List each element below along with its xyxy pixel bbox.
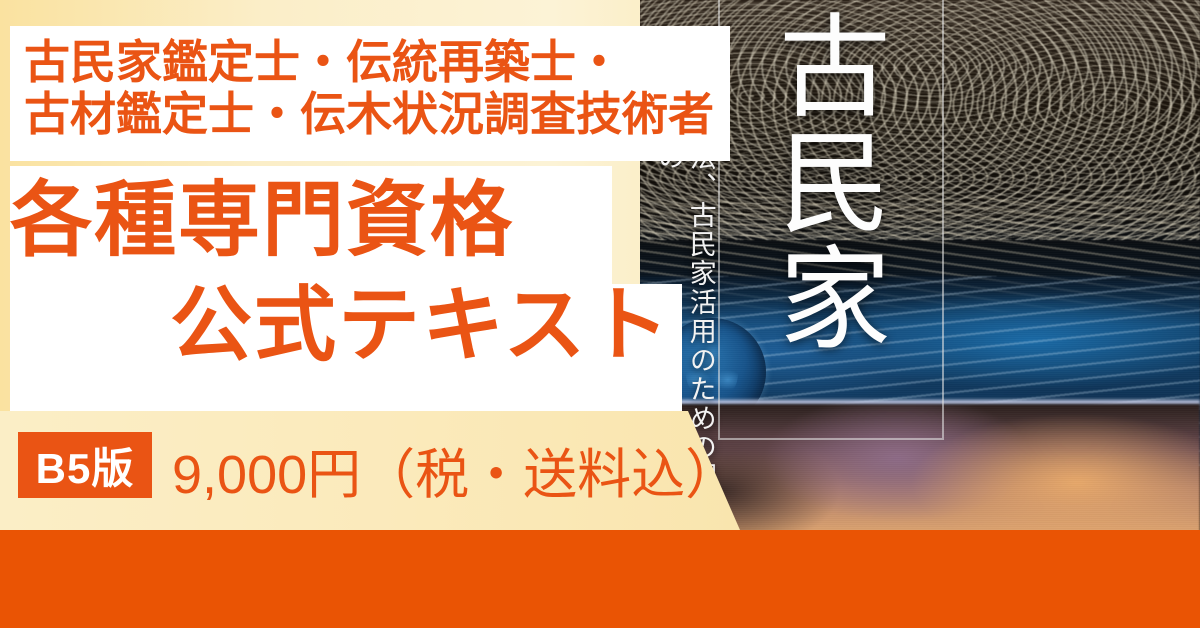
headline-line-2: 公式テキスト [170, 285, 672, 367]
qualifications-panel: 古民家鑑定士・伝統再築士・ 古材鑑定士・伝木状況調査技術者 [10, 26, 730, 161]
promo-banner: 古民家 伝統構法、古民家活用のための調査と再生の 古民家鑑定士・伝統再築士・ 古… [0, 0, 1200, 628]
cta-bar[interactable]: 詳細・ご購入はこちら [0, 530, 1200, 628]
headline-line-1: 各種専門資格 [10, 180, 514, 262]
price-amount: 9,000円（税・送料込） [172, 430, 739, 509]
size-badge-label: B5版 [18, 432, 152, 498]
size-badge: B5版 [18, 432, 152, 498]
qualifications-line-1: 古民家鑑定士・伝統再築士・ [24, 34, 622, 90]
qualifications-line-2: 古材鑑定士・伝木状況調査技術者 [24, 86, 714, 142]
book-title: 古民家 [758, 8, 888, 356]
